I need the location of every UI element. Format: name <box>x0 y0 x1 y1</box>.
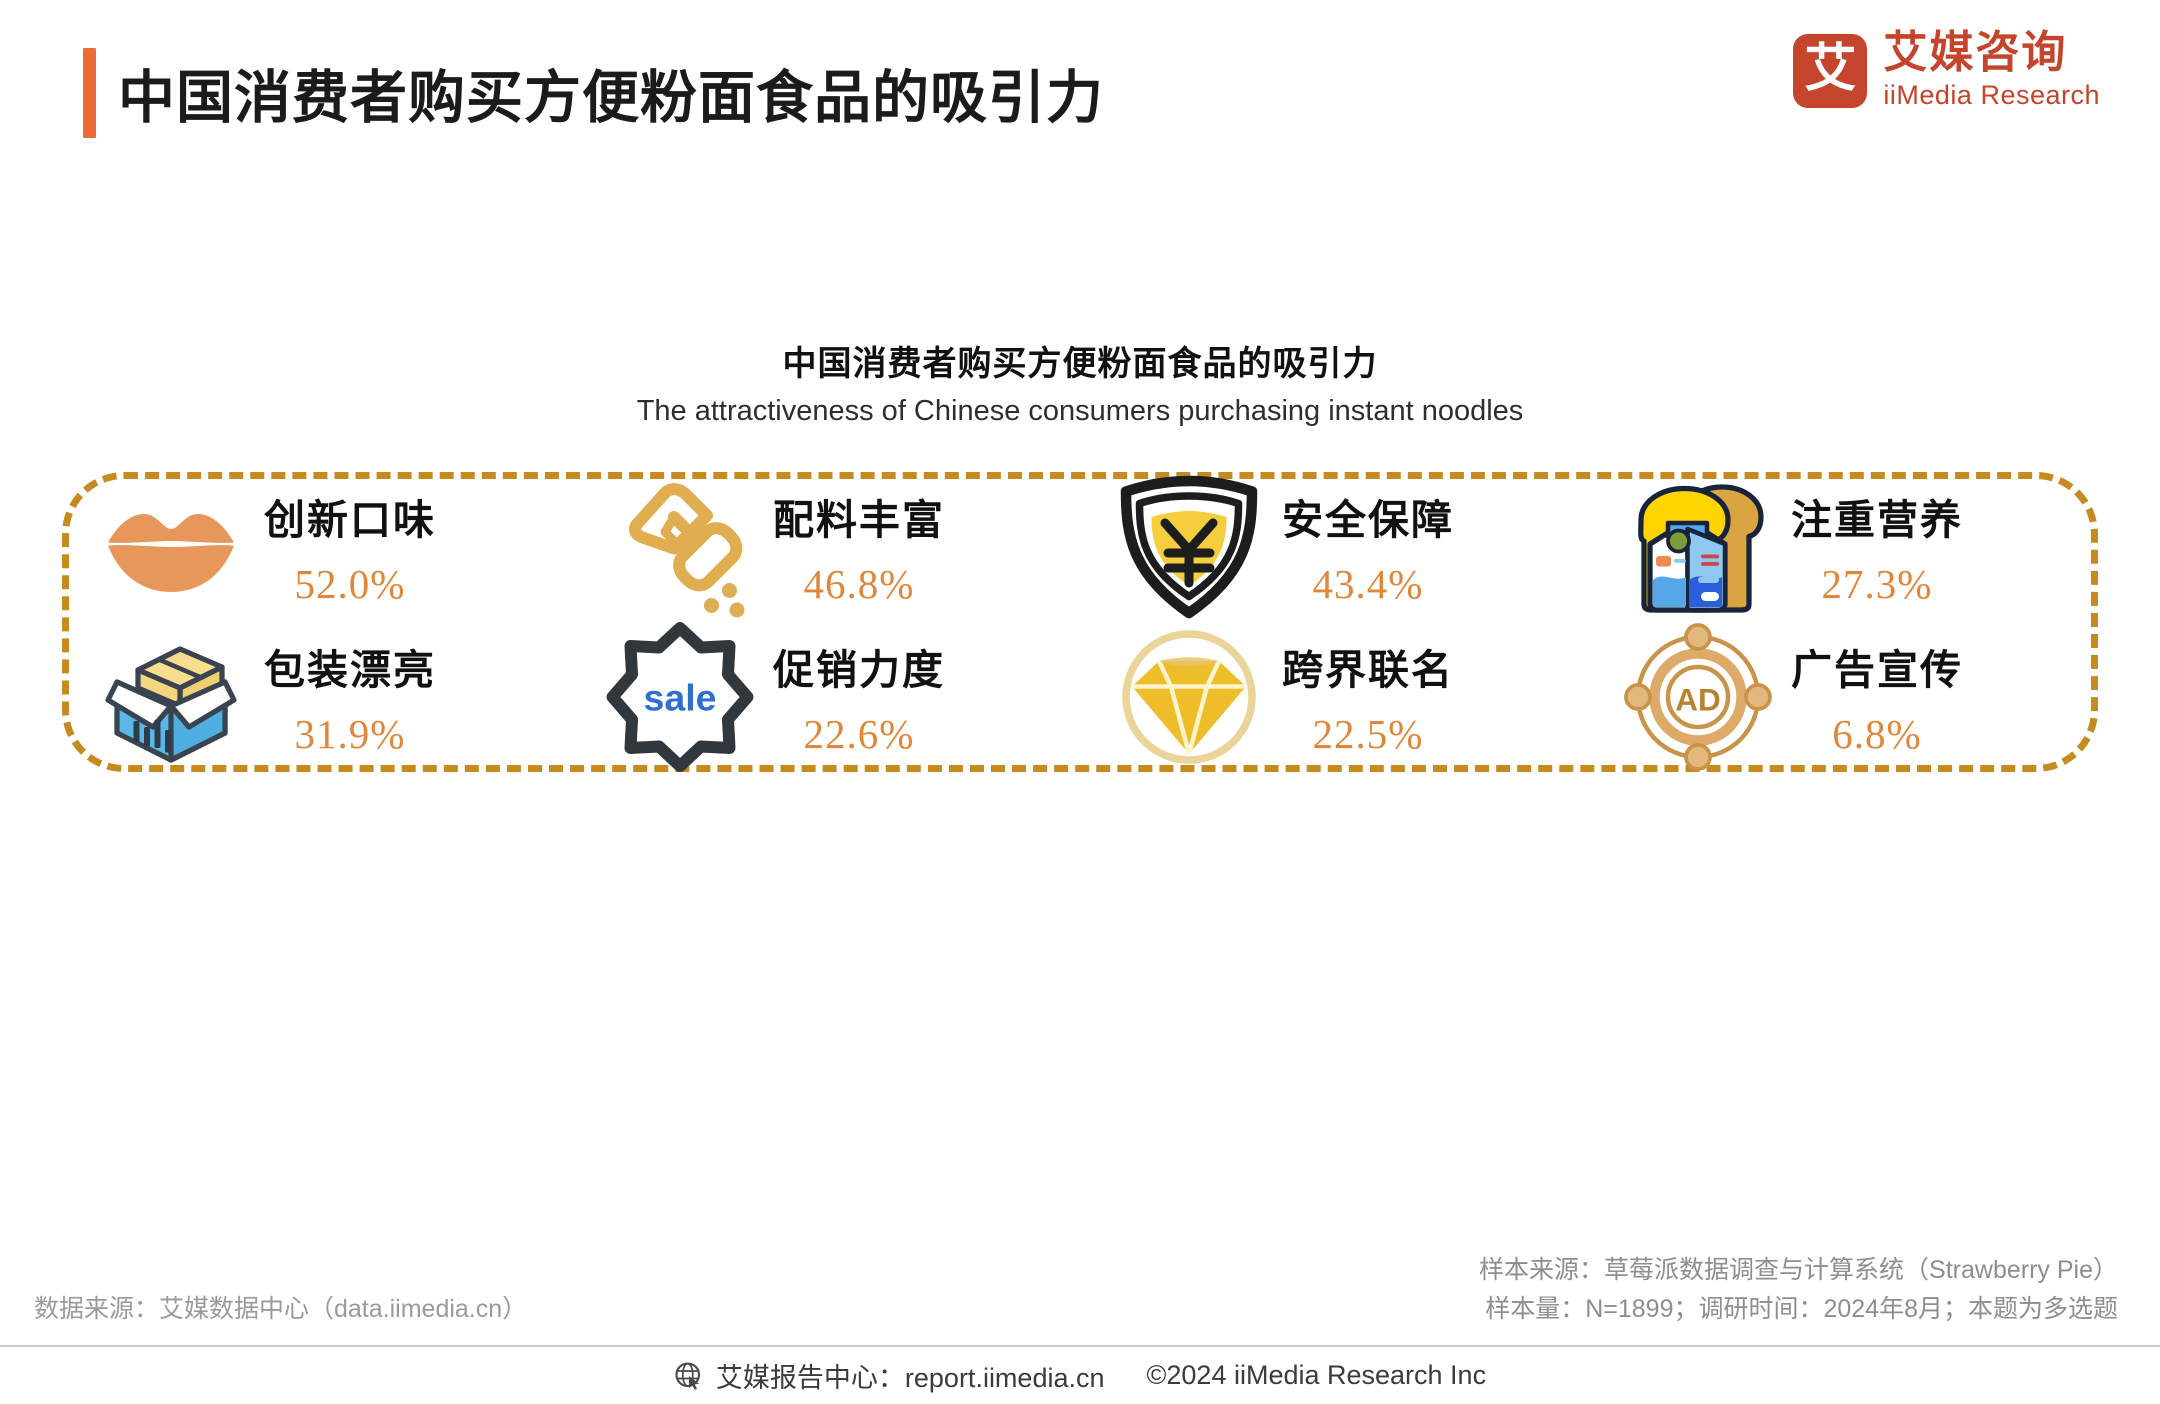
attribute-label: 包装漂亮 <box>264 636 436 696</box>
attribute-label: 配料丰富 <box>773 486 945 546</box>
attribute-value: 46.8% <box>804 560 915 608</box>
infographic-page: 中国消费者购买方便粉面食品的吸引力 艾 艾媒咨询 iiMedia Researc… <box>0 0 2160 1404</box>
attributes-grid: 创新口味 52.0% 配料丰富 <box>62 472 2098 772</box>
sample-info-note: 样本量：N=1899；调研时间：2024年8月；本题为多选题 <box>1479 1290 2118 1329</box>
attribute-value: 6.8% <box>1832 710 1921 758</box>
footer-bar: 艾媒报告中心：report.iimedia.cn ©2024 iiMedia R… <box>0 1347 2160 1404</box>
attribute-item[interactable]: 安全保障 43.4% <box>1080 472 1589 622</box>
report-center-link[interactable]: 艾媒报告中心：report.iimedia.cn <box>674 1356 1105 1395</box>
attribute-label: 创新口味 <box>264 486 436 546</box>
sample-source-note: 样本来源：草莓派数据调查与计算系统（Strawberry Pie） <box>1479 1251 2118 1290</box>
bread-milk-icon <box>1623 472 1773 622</box>
title-accent-bar <box>83 48 96 138</box>
chart-title-cn: 中国消费者购买方便粉面食品的吸引力 <box>0 336 2160 385</box>
attribute-value: 22.6% <box>804 710 915 758</box>
attribute-text: 配料丰富 46.8% <box>773 486 945 608</box>
attribute-item[interactable]: 配料丰富 46.8% <box>571 472 1080 622</box>
svg-text:sale: sale <box>644 677 717 719</box>
attribute-text: 包装漂亮 31.9% <box>264 636 436 758</box>
attribute-item[interactable]: sale 促销力度 22.6% <box>571 622 1080 772</box>
chart-title-en: The attractiveness of Chinese consumers … <box>0 395 2160 428</box>
sample-notes: 样本来源：草莓派数据调查与计算系统（Strawberry Pie） 样本量：N=… <box>1479 1251 2118 1329</box>
attribute-label: 跨界联名 <box>1282 636 1454 696</box>
seasoning-packet-icon <box>605 472 755 622</box>
sale-badge-icon: sale <box>605 622 755 772</box>
attribute-text: 广告宣传 6.8% <box>1791 636 1963 758</box>
copyright-text: ©2024 iiMedia Research Inc <box>1147 1360 1487 1391</box>
attribute-text: 安全保障 43.4% <box>1282 486 1454 608</box>
brand-mark-icon: 艾 <box>1793 34 1867 108</box>
report-center-text: 艾媒报告中心：report.iimedia.cn <box>716 1356 1105 1395</box>
data-source-note: 数据来源：艾媒数据中心（data.iimedia.cn） <box>34 1289 527 1325</box>
attribute-label: 广告宣传 <box>1791 636 1963 696</box>
svg-text:AD: AD <box>1675 682 1721 718</box>
attribute-label: 促销力度 <box>773 636 945 696</box>
attribute-value: 22.5% <box>1313 710 1424 758</box>
open-box-icon <box>96 622 246 772</box>
attribute-item[interactable]: 注重营养 27.3% <box>1589 472 2098 622</box>
attribute-text: 注重营养 27.3% <box>1791 486 1963 608</box>
brand-logo: 艾 艾媒咨询 iiMedia Research <box>1793 30 2100 111</box>
attribute-value: 31.9% <box>295 710 406 758</box>
attribute-item[interactable]: AD 广告宣传 6.8% <box>1589 622 2098 772</box>
attribute-label: 安全保障 <box>1282 486 1454 546</box>
attribute-text: 创新口味 52.0% <box>264 486 436 608</box>
attribute-value: 43.4% <box>1313 560 1424 608</box>
page-title: 中国消费者购买方便粉面食品的吸引力 <box>118 52 1104 134</box>
attribute-item[interactable]: 创新口味 52.0% <box>62 472 571 622</box>
attribute-text: 促销力度 22.6% <box>773 636 945 758</box>
brand-text: 艾媒咨询 iiMedia Research <box>1883 30 2100 111</box>
brand-name-cn: 艾媒咨询 <box>1883 30 2100 76</box>
attribute-value: 52.0% <box>295 560 406 608</box>
page-header: 中国消费者购买方便粉面食品的吸引力 艾 艾媒咨询 iiMedia Researc… <box>0 0 2160 175</box>
ad-target-icon: AD <box>1623 622 1773 772</box>
attribute-text: 跨界联名 22.5% <box>1282 636 1454 758</box>
attribute-item[interactable]: 跨界联名 22.5% <box>1080 622 1589 772</box>
attribute-value: 27.3% <box>1822 560 1933 608</box>
shield-yen-icon <box>1114 472 1264 622</box>
diamond-icon <box>1114 622 1264 772</box>
attribute-label: 注重营养 <box>1791 486 1963 546</box>
brand-name-en: iiMedia Research <box>1883 80 2100 111</box>
lips-icon <box>96 472 246 622</box>
globe-cursor-icon <box>674 1361 704 1391</box>
attribute-item[interactable]: 包装漂亮 31.9% <box>62 622 571 772</box>
